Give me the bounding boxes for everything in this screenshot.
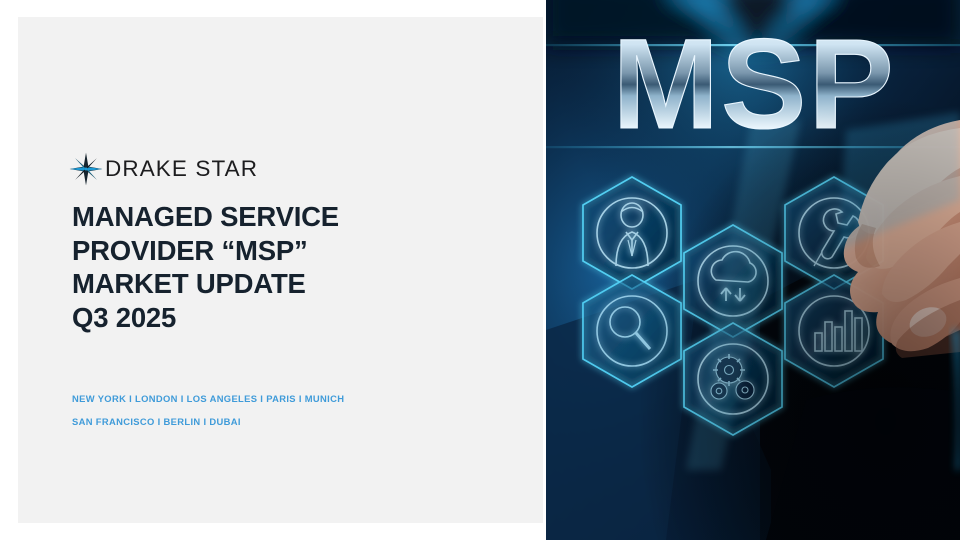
title-line-1: MANAGED SERVICE (72, 200, 492, 234)
left-content-panel: DRAKE STAR MANAGED SERVICE PROVIDER “MSP… (18, 17, 543, 523)
office-line-1: NEW YORK I LONDON I LOS ANGELES I PARIS … (72, 394, 512, 403)
title-line-3: MARKET UPDATE (72, 267, 492, 301)
title-line-2: PROVIDER “MSP” (72, 234, 492, 268)
brand-logo: DRAKE STAR (72, 152, 258, 186)
slide-root: DRAKE STAR MANAGED SERVICE PROVIDER “MSP… (0, 0, 960, 540)
title-line-4: Q3 2025 (72, 301, 492, 335)
page-title: MANAGED SERVICE PROVIDER “MSP” MARKET UP… (72, 200, 492, 334)
hero-photo: MSP (546, 0, 960, 540)
office-locations: NEW YORK I LONDON I LOS ANGELES I PARIS … (72, 394, 512, 427)
left-panel-inner: DRAKE STAR MANAGED SERVICE PROVIDER “MSP… (72, 17, 543, 523)
hero-photo-artwork: MSP (546, 0, 960, 540)
compass-star-icon (69, 152, 103, 186)
brand-wordmark: DRAKE STAR (105, 158, 258, 181)
office-line-2: SAN FRANCISCO I BERLIN I DUBAI (72, 417, 512, 426)
